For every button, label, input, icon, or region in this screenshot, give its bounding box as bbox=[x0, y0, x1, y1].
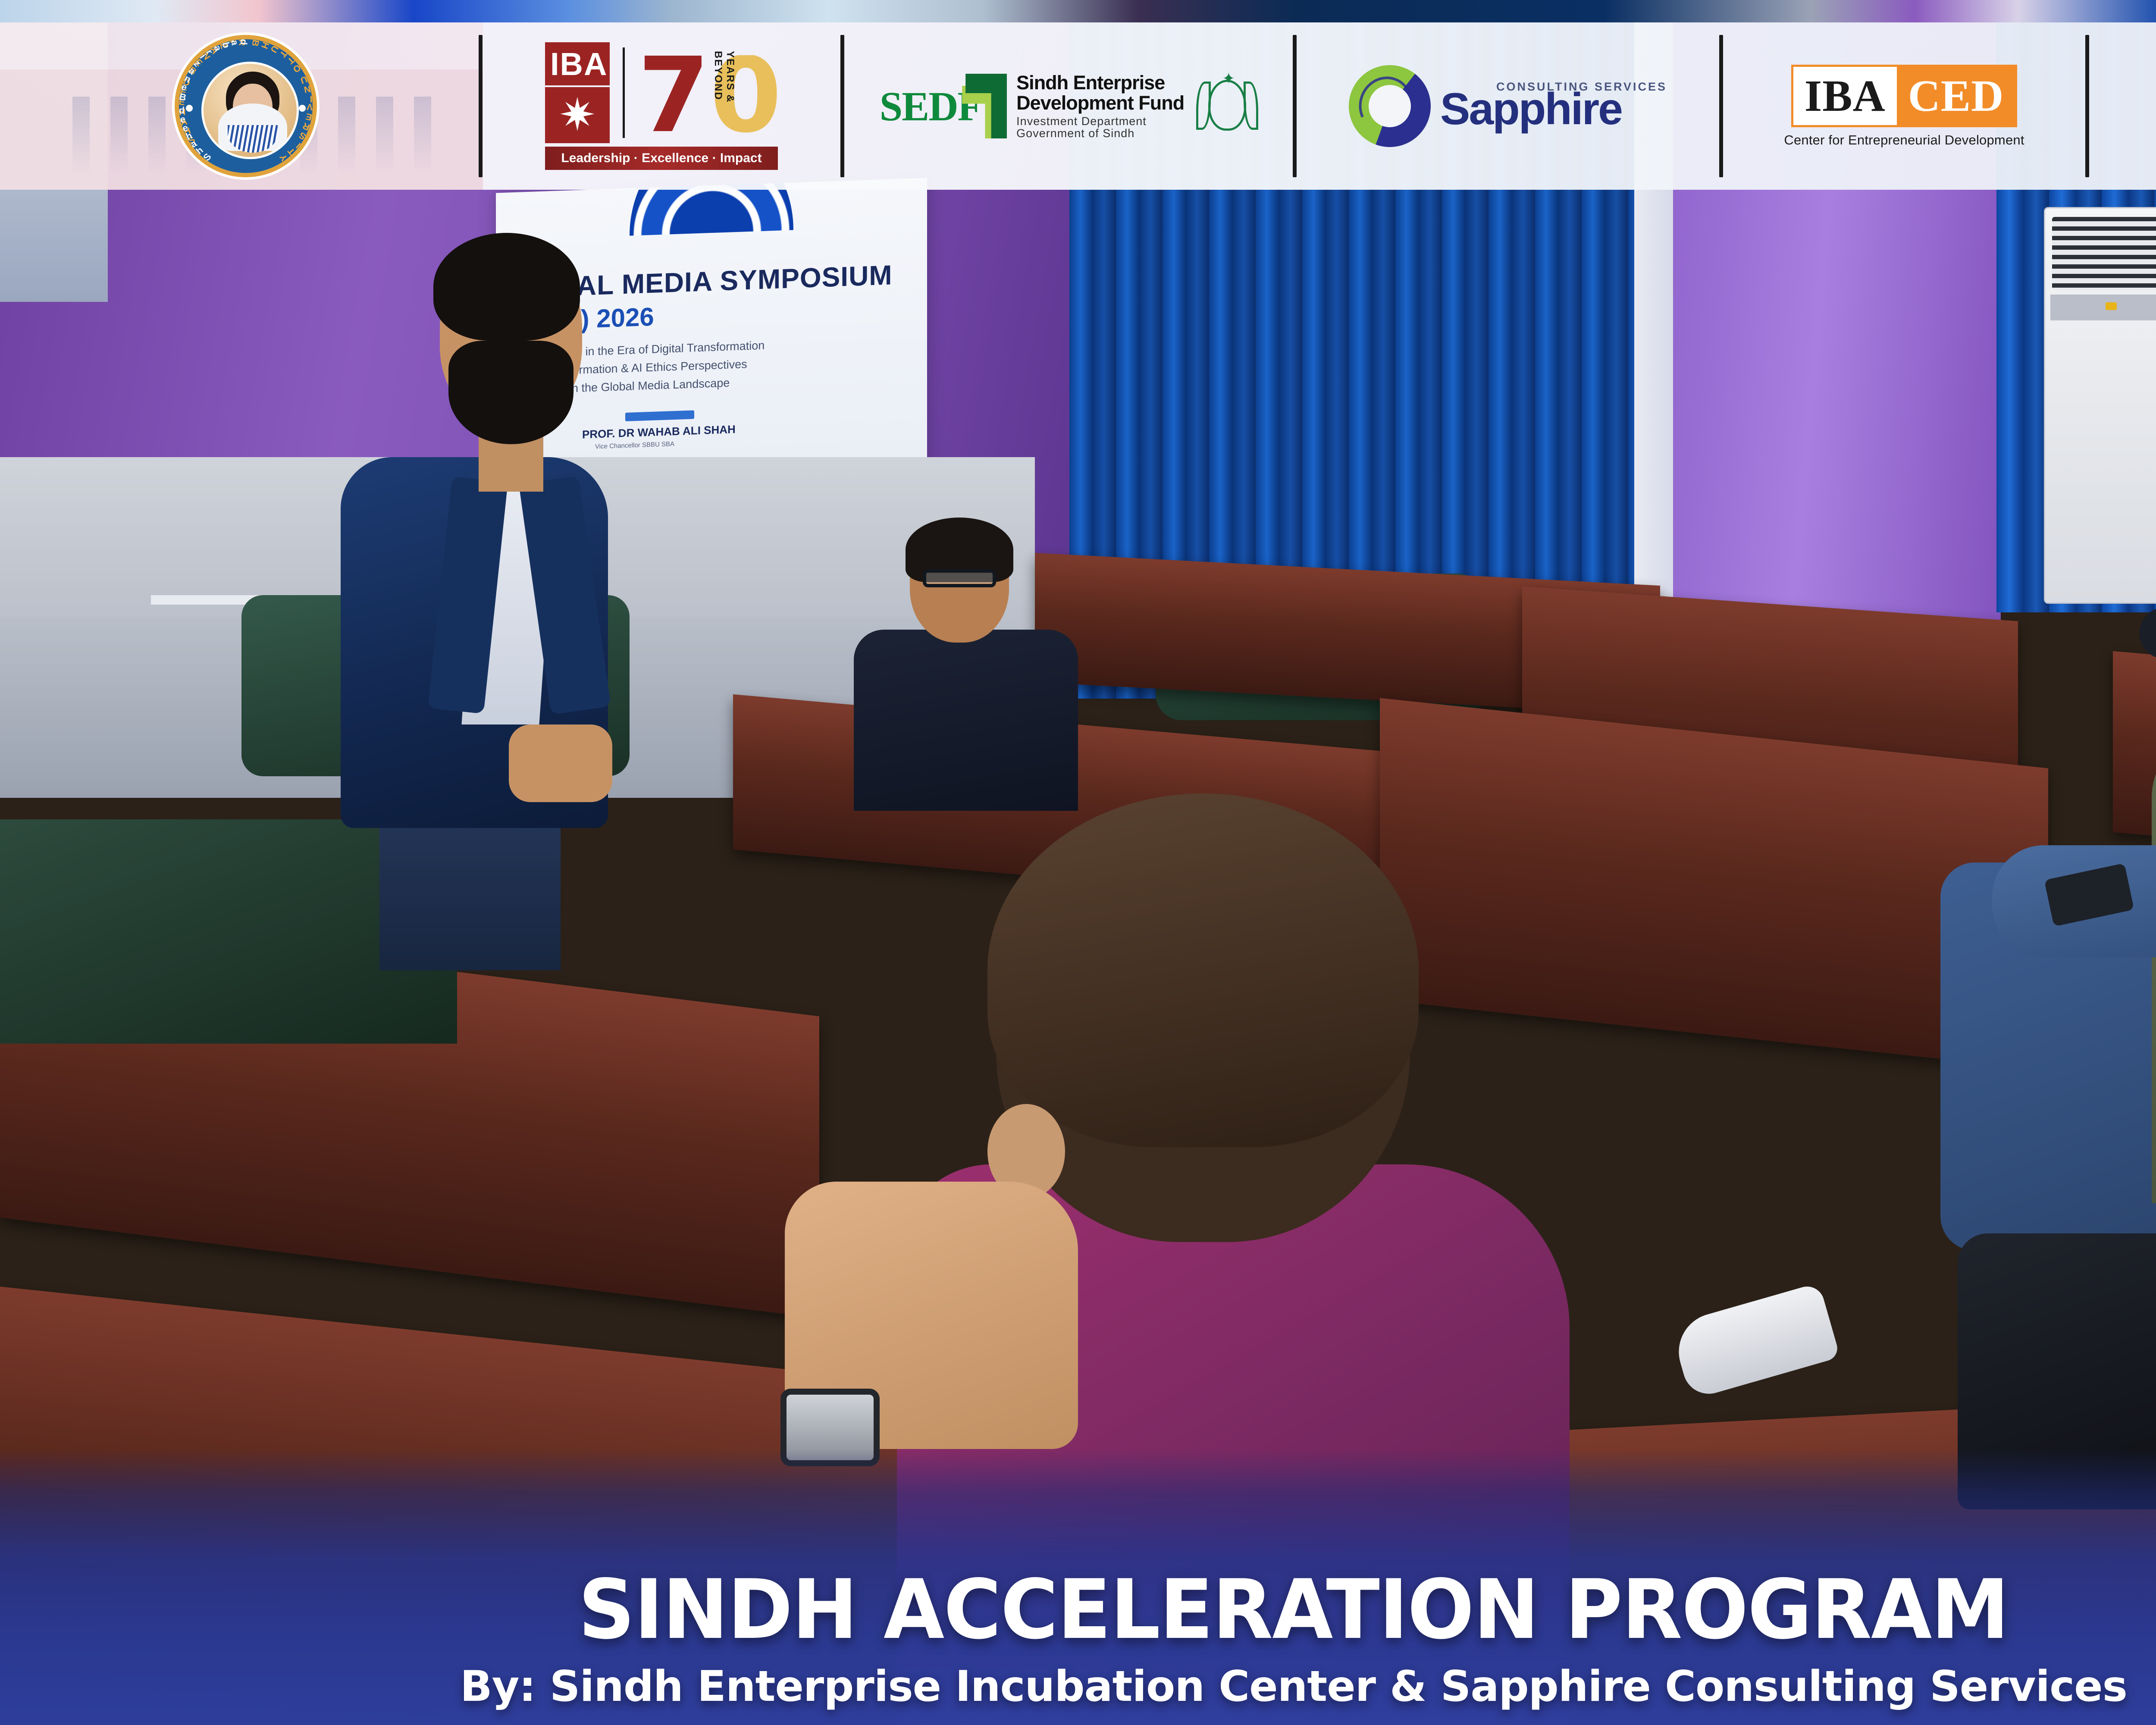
speaker-hair bbox=[433, 233, 580, 341]
foreground-student-hair bbox=[987, 793, 1419, 1147]
anniversary-number: 70 bbox=[638, 55, 782, 136]
iba-wordmark: IBA bbox=[545, 42, 610, 85]
iba-mark: IBA ✷ bbox=[545, 42, 610, 143]
sedf-text-block: Sindh Enterprise Development Fund Invest… bbox=[1016, 73, 1184, 139]
logo-sbbu[interactable]: S H A H E E D B E N A Z I R B bbox=[13, 22, 479, 190]
header-divider-5 bbox=[2085, 35, 2089, 177]
iba-inner-divider bbox=[623, 47, 625, 138]
ced-ced-word: CED bbox=[1897, 67, 2015, 125]
logo-iba-ced[interactable]: IBA CED Center for Entrepreneurial Devel… bbox=[1723, 22, 2085, 190]
iba-starburst-icon: ✷ bbox=[557, 94, 598, 136]
ceiling-strip bbox=[0, 0, 2156, 22]
air-conditioner bbox=[2044, 207, 2156, 604]
header-divider-1 bbox=[479, 35, 483, 177]
title-banner: SINDH ACCELERATION PROGRAM By: Sindh Ent… bbox=[0, 1449, 2156, 1725]
header-divider-3 bbox=[1293, 35, 1297, 177]
iba-70-anniversary: 70 YEARS & BEYOND bbox=[638, 48, 728, 143]
ced-iba-word: IBA bbox=[1793, 67, 1897, 125]
eyeglasses-icon bbox=[923, 569, 996, 587]
crest-portrait-medallion bbox=[201, 62, 299, 159]
sedf-line3: Investment Department bbox=[1016, 115, 1184, 127]
desk-row-far-right bbox=[2113, 651, 2156, 876]
ced-box: IBA CED bbox=[1791, 65, 2018, 127]
logo-oric[interactable]: RESEARCH INNOVATION COMMERCIALIZATION RI… bbox=[2089, 22, 2156, 190]
ac-led-indicator bbox=[2106, 302, 2117, 310]
emblem-shield bbox=[1208, 80, 1246, 131]
sedf-line1: Sindh Enterprise bbox=[1016, 73, 1184, 93]
iba-star-block: ✷ bbox=[545, 87, 610, 143]
program-subtitle: By: Sindh Enterprise Incubation Center &… bbox=[460, 1665, 2127, 1708]
banner-chief-guest-role: Vice Chancellor SBBU SBA bbox=[595, 440, 674, 450]
event-poster: TIONAL MEDIA SYMPOSIUM (IMS) 2026 on in … bbox=[0, 0, 2156, 1725]
sneaker bbox=[1670, 1283, 1840, 1400]
logo-sedf[interactable]: SEDF Sindh Enterprise Development Fund I… bbox=[844, 22, 1293, 190]
ac-grille bbox=[2052, 217, 2156, 290]
banner-theme-lines: on in the Era of Digital Transformation … bbox=[569, 337, 765, 398]
sapphire-swirl-icon bbox=[1349, 65, 1431, 147]
banner-chief-guest-chip bbox=[625, 410, 694, 421]
partner-logo-header: S H A H E E D B E N A Z I R B bbox=[0, 22, 2156, 190]
sedf-line2: Development Fund bbox=[1016, 93, 1184, 113]
sapphire-wordmark: Sapphire bbox=[1440, 87, 1667, 132]
banner-chief-guest-name: PROF. DR WAHAB ALI SHAH bbox=[582, 423, 736, 441]
sbbu-crest-icon: S H A H E E D B E N A Z I R B bbox=[175, 35, 317, 177]
ced-caption: Center for Entrepreneurial Development bbox=[1784, 132, 2024, 148]
government-of-sindh-emblem-icon: ✦ bbox=[1197, 69, 1257, 143]
header-divider-4 bbox=[1719, 35, 1723, 177]
ac-panel bbox=[2050, 295, 2156, 320]
anniversary-years-beyond: YEARS & BEYOND bbox=[712, 51, 736, 143]
crest-dot-left bbox=[186, 105, 193, 112]
sedf-line4: Government of Sindh bbox=[1016, 127, 1184, 139]
attendee-glasses-torso bbox=[854, 630, 1078, 811]
logo-iba[interactable]: IBA ✷ 70 YEARS & BEYOND Leadership · Exc… bbox=[483, 22, 840, 190]
attendee-right-tshirt bbox=[2152, 729, 2156, 1203]
speaker-beard bbox=[448, 341, 573, 444]
speaker-clasped-hands bbox=[509, 724, 612, 802]
crest-dot-right bbox=[299, 105, 306, 112]
header-divider-2 bbox=[840, 35, 844, 177]
program-title: SINDH ACCELERATION PROGRAM bbox=[579, 1569, 2009, 1651]
sedf-arrow-icon bbox=[962, 74, 1009, 138]
logo-sapphire[interactable]: CONSULTING SERVICES Sapphire bbox=[1297, 22, 1719, 190]
